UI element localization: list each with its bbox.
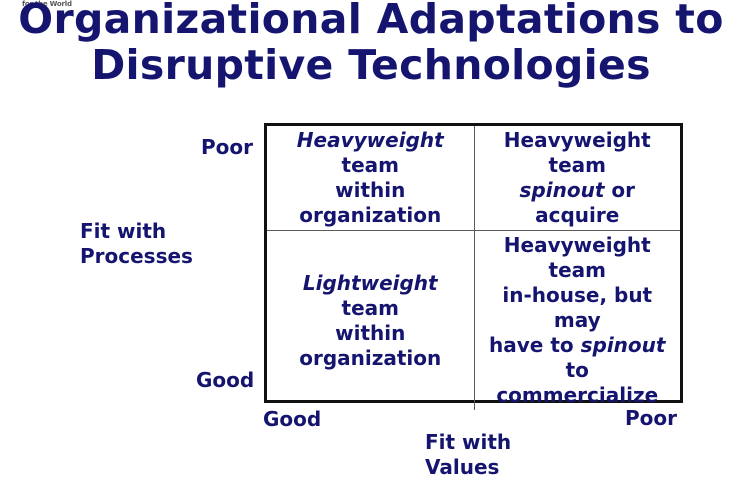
matrix-cell-top-left-line-1: Heavyweight team [273,128,468,178]
page-title-line-1: Organizational Adaptations to [0,0,742,42]
y-axis-top-label: Poor [201,135,253,160]
matrix-cell-bottom-left-line-1: Lightweight team [273,271,468,321]
matrix-cell-bottom-right-line-4: commercialize [481,383,675,408]
page-title: Organizational Adaptations to Disruptive… [0,0,742,88]
two-by-two-matrix: Heavyweight team within organization Hea… [264,123,683,403]
matrix-cell-bottom-right: Heavyweight team in-house, but may have … [474,230,681,410]
matrix-cell-top-left-line-2: within organization [273,178,468,228]
matrix-cell-bottom-left-line-1-emphasis: Lightweight [303,271,438,295]
matrix-cell-bottom-right-line-2: in-house, but may [481,283,675,333]
x-axis-title-line-2: Values [425,455,511,480]
y-axis-title-line-2: Processes [80,244,193,269]
matrix-cell-bottom-right-line-3-emphasis: spinout [581,333,666,357]
matrix-cell-top-right-line-1: Heavyweight team [481,128,675,178]
matrix-cell-top-right: Heavyweight team spinout or acquire [474,126,681,230]
y-axis-title: Fit with Processes [80,219,193,269]
matrix-cell-bottom-right-line-1: Heavyweight team [481,233,675,283]
page-title-line-2: Disruptive Technologies [0,42,742,88]
matrix-cell-top-left: Heavyweight team within organization [267,126,474,230]
matrix-cell-bottom-left: Lightweight team within organization [267,230,474,410]
matrix-cell-top-right-line-2: spinout or acquire [481,178,675,228]
x-axis-left-label: Good [263,407,321,432]
matrix-cell-bottom-left-line-1-rest: team [342,296,399,320]
x-axis-right-label: Poor [625,406,677,431]
matrix-cell-top-right-line-2-emphasis: spinout [520,178,605,202]
matrix-cell-bottom-right-line-3-pre: have to [489,333,581,357]
x-axis-title: Fit with Values [425,430,511,480]
y-axis-bottom-label: Good [196,368,254,393]
y-axis-title-line-1: Fit with [80,219,193,244]
x-axis-title-line-1: Fit with [425,430,511,455]
matrix-cell-top-left-line-1-emphasis: Heavyweight [297,128,444,152]
matrix-cell-bottom-left-line-2: within organization [273,321,468,371]
matrix-cell-bottom-right-line-3-post: to [566,358,589,382]
matrix-cell-top-left-line-1-rest: team [342,153,399,177]
matrix-cell-bottom-right-line-3: have to spinout to [481,333,675,383]
